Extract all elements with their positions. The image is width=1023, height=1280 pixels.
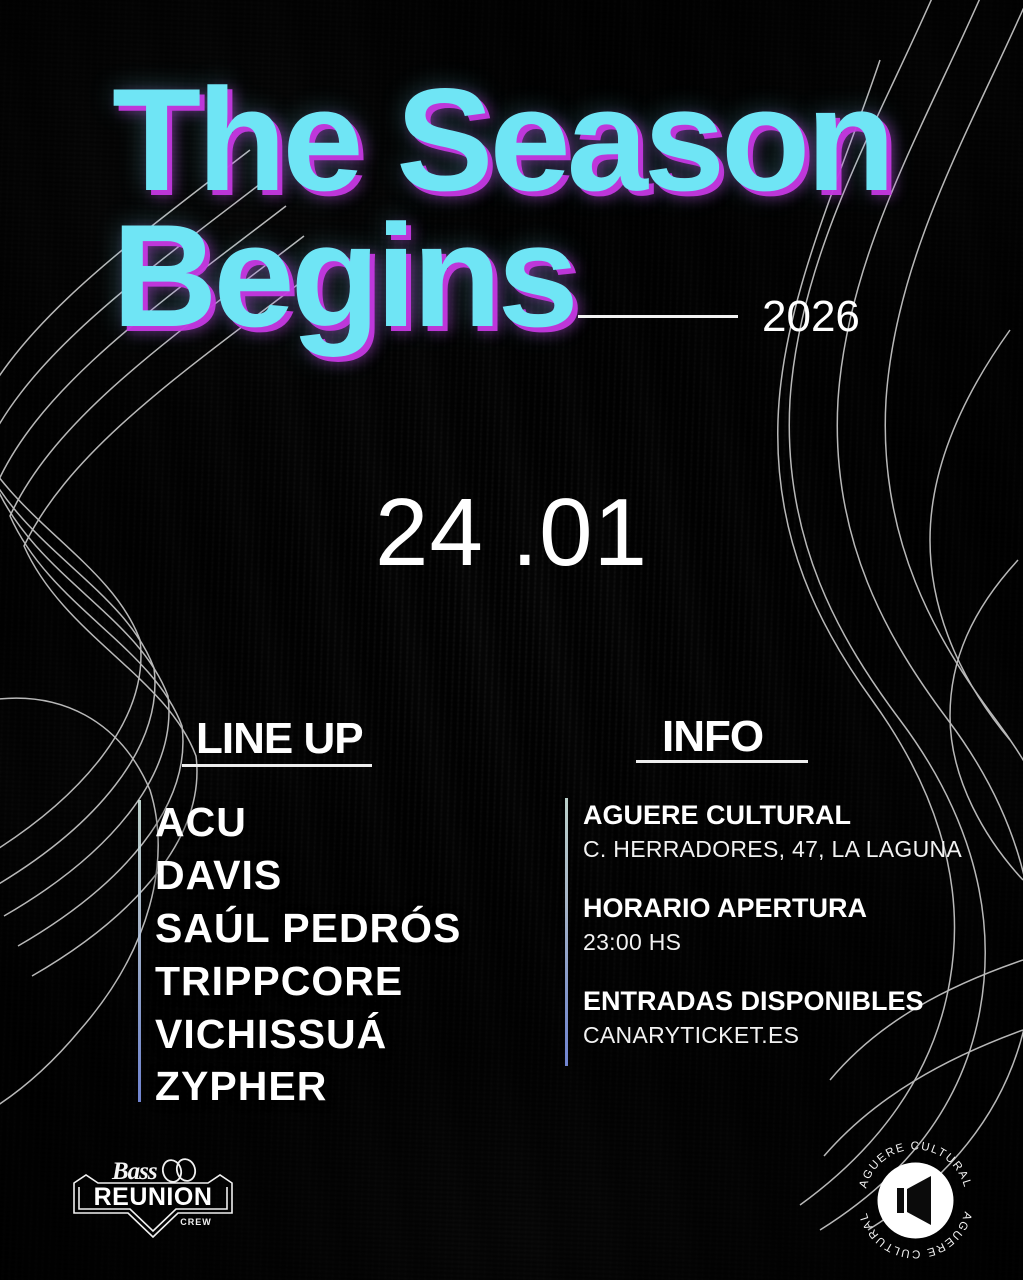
reunion-main-text: REUNION [94,1183,213,1211]
hours-label: HORARIO APERTURA [583,893,983,924]
lineup-heading-rule [182,764,372,767]
venue-name: AGUERE CULTURAL [583,800,983,831]
lineup-item: ZYPHER [155,1060,461,1113]
info-list: AGUERE CULTURAL C. HERRADORES, 47, LA LA… [583,800,983,1049]
year-rule-divider [578,315,738,318]
info-group-tickets: ENTRADAS DISPONIBLES CANARYTICKET.ES [583,986,983,1049]
lineup-heading: LINE UP [196,714,363,764]
crew-sub-text: CREW [180,1217,212,1227]
lineup-item: ACU [155,796,461,849]
info-accent-bar [565,798,568,1066]
bass-script-text: Bass [111,1158,157,1185]
bass-reunion-crew-logo: Bass REUNION CREW [68,1145,238,1240]
tickets-url: CANARYTICKET.ES [583,1022,983,1049]
year-label: 2026 [762,292,860,342]
event-date: 24 .01 [0,478,1023,588]
lineup-item: DAVIS [155,849,461,902]
info-heading-rule [636,760,808,763]
tickets-label: ENTRADAS DISPONIBLES [583,986,983,1017]
aguere-cultural-logo: AGUERE CULTURAL AGUERE CULTURAL [843,1128,988,1273]
info-group-hours: HORARIO APERTURA 23:00 HS [583,893,983,956]
lineup-item: SAÚL PEDRÓS [155,902,461,955]
info-heading: INFO [662,712,763,762]
info-group-venue: AGUERE CULTURAL C. HERRADORES, 47, LA LA… [583,800,983,863]
lineup-accent-bar [138,800,141,1102]
lineup-item: TRIPPCORE [155,955,461,1008]
venue-address: C. HERRADORES, 47, LA LAGUNA [583,836,983,863]
event-poster: The Season Begins 2026 24 .01 LINE UP AC… [0,0,1023,1280]
lineup-list: ACU DAVIS SAÚL PEDRÓS TRIPPCORE VICHISSU… [155,796,461,1113]
lineup-item: VICHISSUÁ [155,1008,461,1061]
hours-value: 23:00 HS [583,929,983,956]
